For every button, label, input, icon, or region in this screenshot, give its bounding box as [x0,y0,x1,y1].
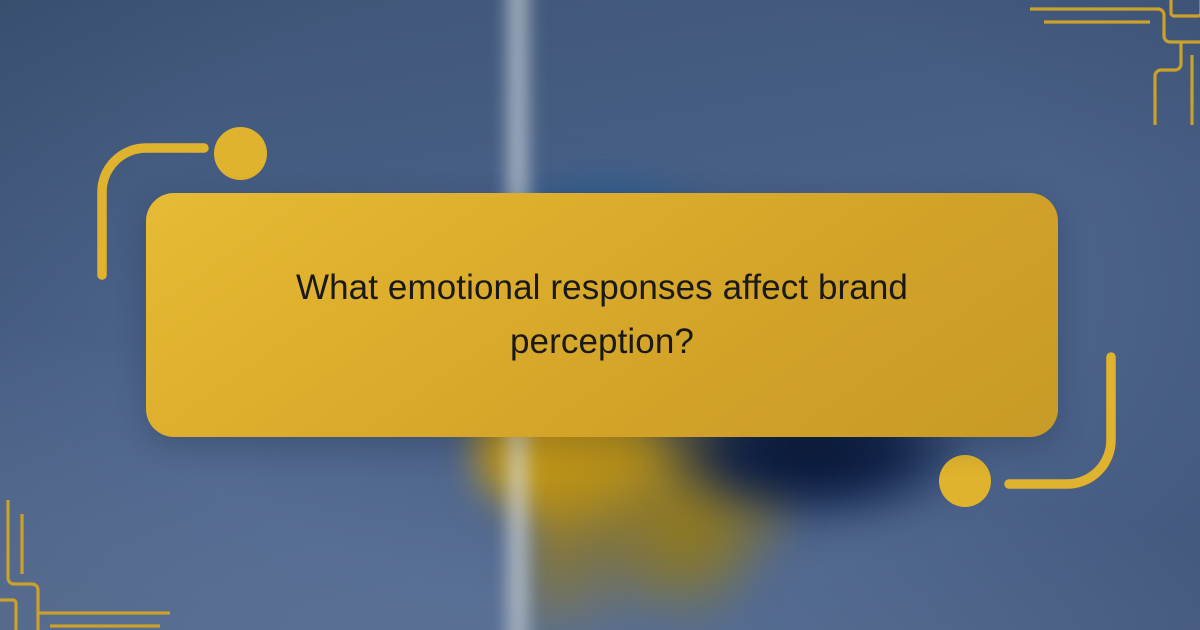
card-title: What emotional responses affect brand pe… [257,261,947,370]
dot-top-left-icon [214,127,267,180]
headline-card: What emotional responses affect brand pe… [146,193,1058,437]
dot-bottom-right-icon [939,455,991,507]
share-card-canvas: What emotional responses affect brand pe… [0,0,1200,630]
